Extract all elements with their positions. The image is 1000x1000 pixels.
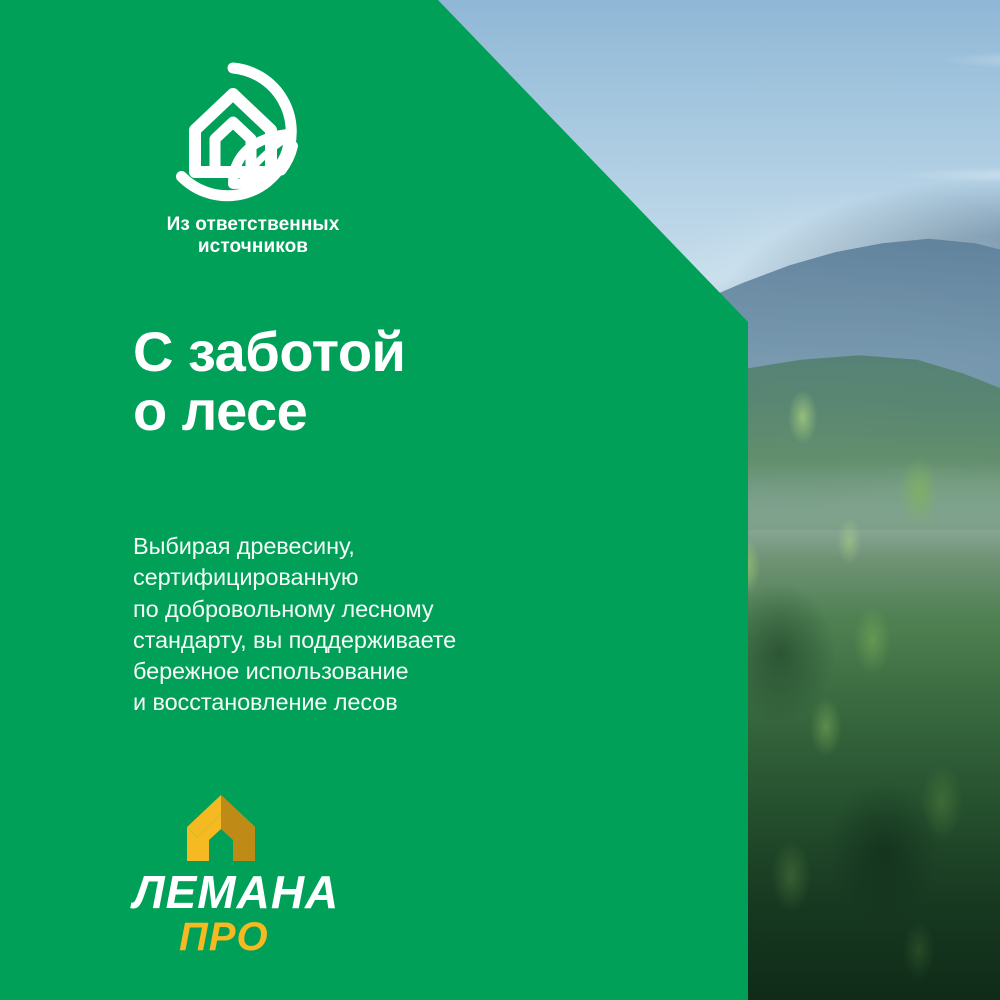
brand-sub: ПРО xyxy=(179,917,339,957)
body-line6: и восстановление лесов xyxy=(133,687,456,718)
body-copy: Выбирая древесину, сертифицированную по … xyxy=(133,531,456,719)
body-line5: бережное использование xyxy=(133,656,456,687)
certification-caption-line1: Из ответственных xyxy=(133,214,373,236)
certification-caption-line2: источников xyxy=(133,236,373,258)
poster-content: Из ответственных источников С заботой о … xyxy=(0,0,1000,1000)
certification-caption: Из ответственных источников xyxy=(133,214,373,259)
certification-badge: Из ответственных источников xyxy=(133,60,433,259)
poster-canvas: Из ответственных источников С заботой о … xyxy=(0,0,1000,1000)
headline-line2: о лесе xyxy=(133,381,405,440)
brand-name: ЛЕМАНА xyxy=(133,869,339,915)
body-line3: по добровольному лесному xyxy=(133,594,456,625)
house-leaf-circle-icon xyxy=(161,60,305,204)
headline-line1: С заботой xyxy=(133,322,405,381)
headline: С заботой о лесе xyxy=(133,322,405,441)
lemana-house-icon xyxy=(183,793,259,863)
body-line4: стандарту, вы поддерживаете xyxy=(133,625,456,656)
body-line1: Выбирая древесину, xyxy=(133,531,456,562)
brand-logo: ЛЕМАНА ПРО xyxy=(133,793,339,957)
body-line2: сертифицированную xyxy=(133,562,456,593)
